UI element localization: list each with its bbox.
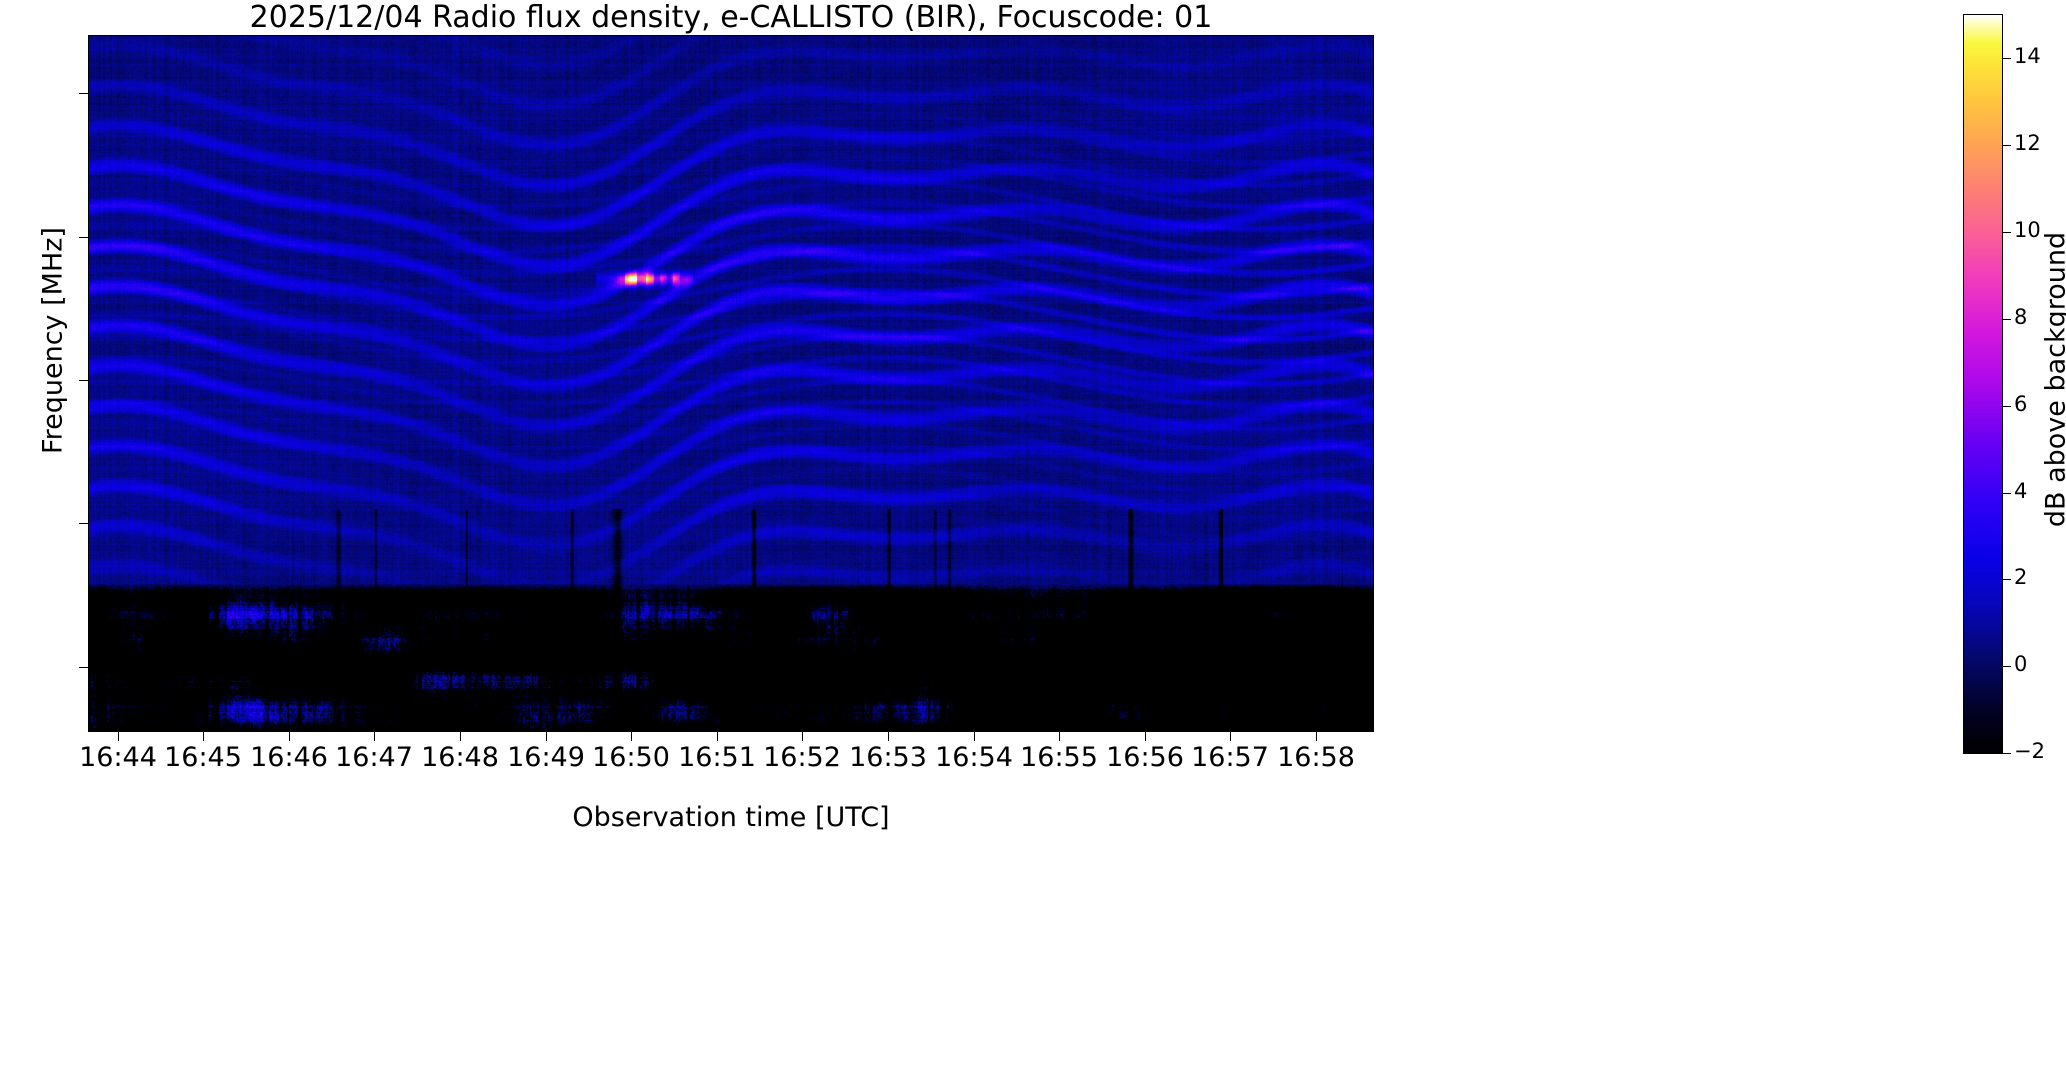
x-tick-mark [1059,732,1060,741]
y-tick-mark [79,380,88,381]
x-axis-label: Observation time [UTC] [88,802,1374,833]
colorbar-tick-mark [2003,493,2011,494]
colorbar-tick-mark [2003,319,2011,320]
x-tick-mark [460,732,461,741]
x-tick-mark [717,732,718,741]
x-tick-label: 16:58 [1236,742,1396,773]
colorbar-tick-mark [2003,753,2011,754]
x-tick-mark [289,732,290,741]
x-tick-mark [974,732,975,741]
x-tick-mark [631,732,632,741]
colorbar-label: dB above background [2041,30,2066,730]
y-tick-mark [79,93,88,94]
colorbar-tick-mark [2003,58,2011,59]
colorbar-tick-mark [2003,232,2011,233]
x-tick-mark [203,732,204,741]
y-tick-mark [79,237,88,238]
x-tick-mark [546,732,547,741]
colorbar-tick-label: −2 [2014,739,2066,763]
page-title: 2025/12/04 Radio flux density, e-CALLIST… [88,2,1374,34]
x-tick-mark [1316,732,1317,741]
spectrogram-figure: 2025/12/04 Radio flux density, e-CALLIST… [0,0,2066,1067]
y-tick-mark [79,667,88,668]
spectrogram-image [89,36,1373,731]
x-tick-mark [118,732,119,741]
y-axis-label: Frequency [MHz] [38,0,69,691]
colorbar-tick-mark [2003,406,2011,407]
colorbar-gradient [1964,15,2002,753]
x-tick-mark [1145,732,1146,741]
x-tick-mark [888,732,889,741]
spectrogram-plot-area[interactable] [88,35,1374,732]
colorbar-tick-mark [2003,666,2011,667]
colorbar-tick-mark [2003,579,2011,580]
x-tick-mark [1230,732,1231,741]
colorbar-tick-mark [2003,145,2011,146]
x-tick-mark [374,732,375,741]
x-tick-mark [802,732,803,741]
colorbar[interactable] [1963,14,2003,754]
y-tick-mark [79,523,88,524]
